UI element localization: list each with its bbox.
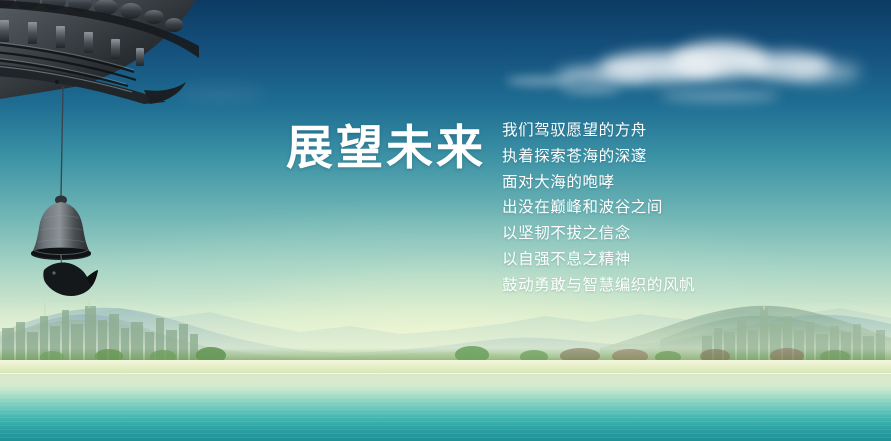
cloud-wisp-lower <box>660 90 780 102</box>
cloud-wisp-small <box>560 86 620 95</box>
poem-line-6: 以自强不息之精神 <box>502 247 695 273</box>
page-title: 展望未来 <box>286 124 486 174</box>
poem-line-4: 出没在巅峰和波谷之间 <box>502 195 695 221</box>
poem-text: 我们驾驭愿望的方舟 执着探索苍海的深邃 面对大海的咆哮 出没在巅峰和波谷之间 以… <box>502 118 695 299</box>
water-reflection <box>0 374 891 392</box>
poem-line-2: 执着探索苍海的深邃 <box>502 144 695 170</box>
promo-banner: 展望未来 我们驾驭愿望的方舟 执着探索苍海的深邃 面对大海的咆哮 出没在巅峰和波… <box>0 0 891 441</box>
poem-line-5: 以坚韧不拔之信念 <box>502 221 695 247</box>
poem-line-7: 鼓动勇敢与智慧编织的风帆 <box>502 273 695 299</box>
cloud-far-right <box>790 62 860 82</box>
poem-line-1: 我们驾驭愿望的方舟 <box>502 118 695 144</box>
poem-line-3: 面对大海的咆哮 <box>502 170 695 196</box>
fish-charm <box>40 254 100 304</box>
